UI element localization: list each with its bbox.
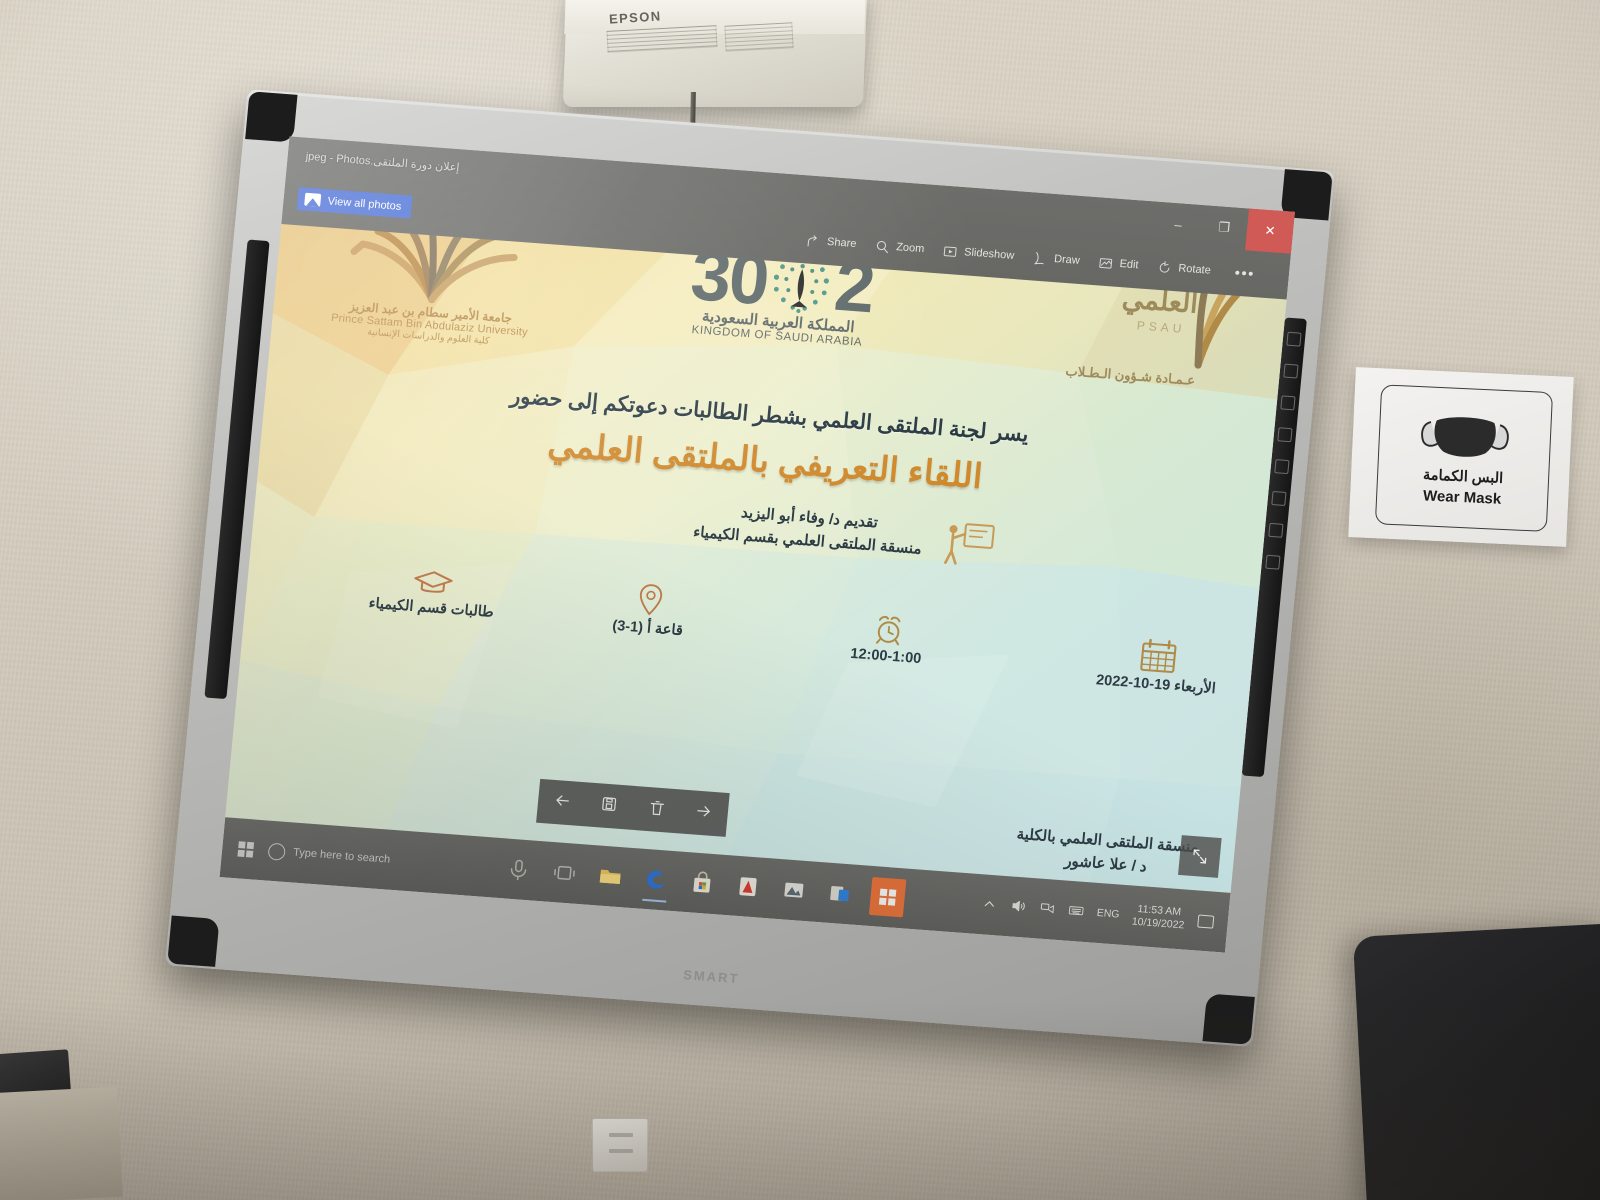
photo-vignette [0, 0, 1600, 1200]
classroom-scene: EPSON [0, 0, 1600, 1200]
